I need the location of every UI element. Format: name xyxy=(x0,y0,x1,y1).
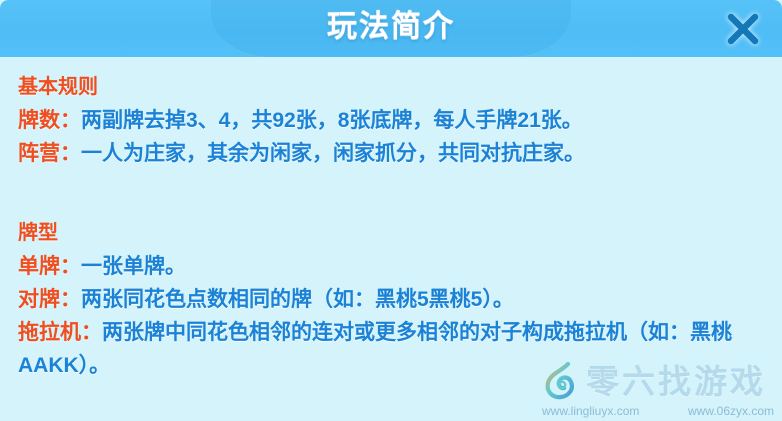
dialog-title: 玩法简介 xyxy=(0,0,782,57)
rule-label: 阵营： xyxy=(18,142,81,165)
cardtype-line-single: 单牌：一张单牌。 xyxy=(18,250,768,283)
cardtype-text: 两张同花色点数相同的牌（如：黑桃5黑桃5）。 xyxy=(81,288,514,311)
cardtype-text: 一张单牌。 xyxy=(81,255,186,278)
dialog-titlebar: 玩法简介 xyxy=(0,0,782,57)
cardtype-label: 单牌： xyxy=(18,255,81,278)
cardtype-label: 对牌： xyxy=(18,288,81,311)
section-heading-basic-rules: 基本规则 xyxy=(18,71,768,104)
section-spacer xyxy=(18,170,768,217)
close-button[interactable] xyxy=(720,6,766,52)
cardtype-line-tractor: 拖拉机：两张牌中同花色相邻的连对或更多相邻的对子构成拖拉机（如：黑桃AAKK）。 xyxy=(18,316,768,382)
section-heading-card-types: 牌型 xyxy=(18,217,768,250)
rule-label: 牌数： xyxy=(18,109,81,132)
close-icon xyxy=(720,6,766,52)
rule-line-camps: 阵营：一人为庄家，其余为闲家，闲家抓分，共同对抗庄家。 xyxy=(18,137,768,170)
game-intro-dialog: 玩法简介 基本规则 牌数：两副牌去掉3、4，共92张，8张底牌，每人手牌21张。… xyxy=(0,0,782,421)
cardtype-label: 拖拉机： xyxy=(18,321,102,344)
rule-line-card-count: 牌数：两副牌去掉3、4，共92张，8张底牌，每人手牌21张。 xyxy=(18,104,768,137)
rule-text: 一人为庄家，其余为闲家，闲家抓分，共同对抗庄家。 xyxy=(81,142,585,165)
dialog-content: 基本规则 牌数：两副牌去掉3、4，共92张，8张底牌，每人手牌21张。 阵营：一… xyxy=(0,57,782,421)
rule-text: 两副牌去掉3、4，共92张，8张底牌，每人手牌21张。 xyxy=(81,109,583,132)
cardtype-line-pair: 对牌：两张同花色点数相同的牌（如：黑桃5黑桃5）。 xyxy=(18,283,768,316)
cardtype-text: 两张牌中同花色相邻的连对或更多相邻的对子构成拖拉机（如：黑桃AAKK）。 xyxy=(18,321,732,377)
